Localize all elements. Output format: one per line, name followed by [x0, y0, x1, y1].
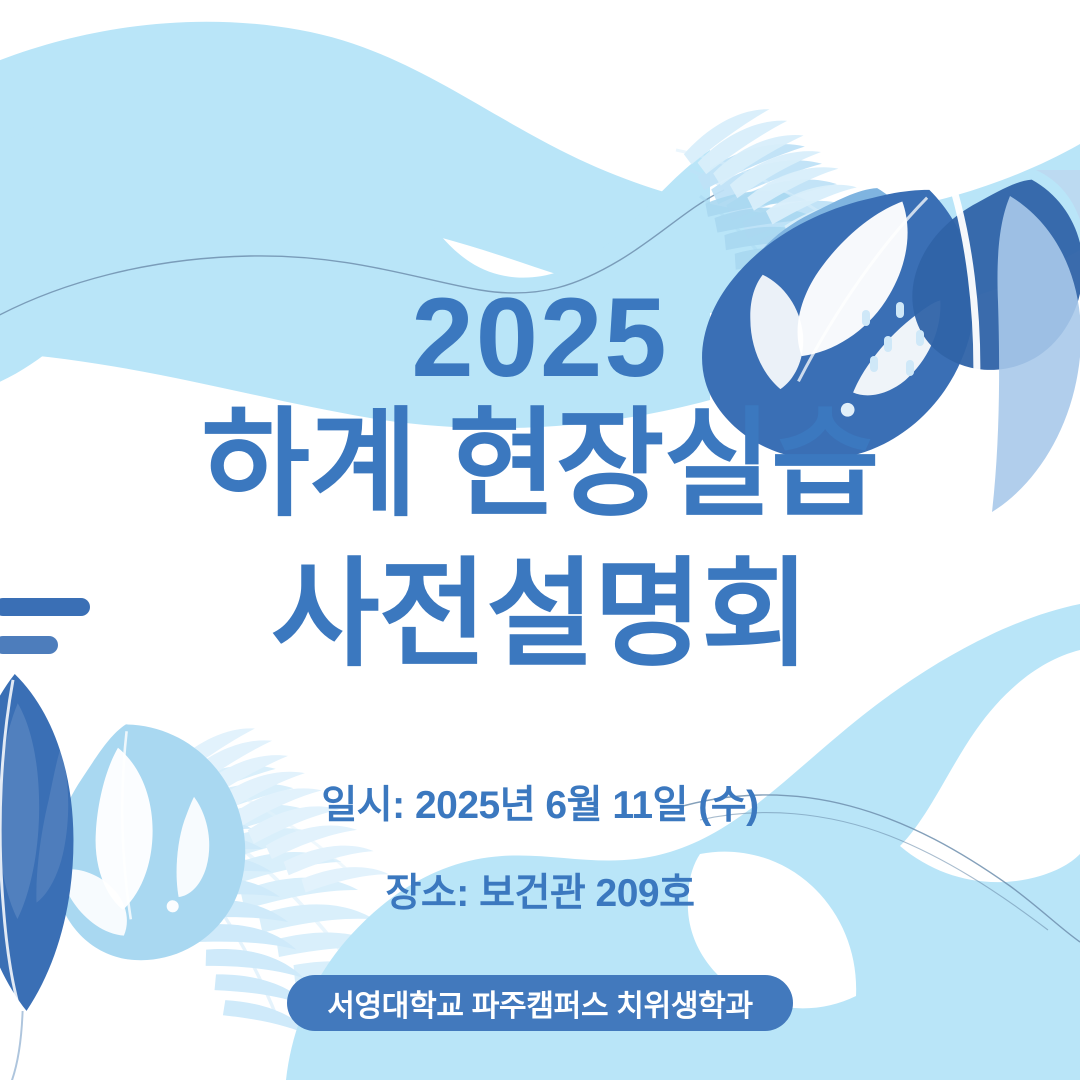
- poster-canvas: 2025 하계 현장실습 사전설명회 일시: 2025년 6월 11일 (수) …: [0, 0, 1080, 1080]
- title-line-2: 사전설명회: [0, 544, 1080, 688]
- title-year: 2025: [0, 282, 1080, 394]
- event-info-block: 일시: 2025년 6월 11일 (수) 장소: 보건관 209호: [0, 786, 1080, 913]
- department-badge: 서영대학교 파주캠퍼스 치위생학과: [287, 975, 793, 1031]
- poster-content: 2025 하계 현장실습 사전설명회 일시: 2025년 6월 11일 (수) …: [0, 0, 1080, 1080]
- title-line-1: 하계 현장실습: [0, 394, 1080, 538]
- title-block: 2025 하계 현장실습 사전설명회: [0, 282, 1080, 688]
- department-badge-wrapper: 서영대학교 파주캠퍼스 치위생학과: [0, 975, 1080, 1031]
- event-date-line: 일시: 2025년 6월 11일 (수): [0, 786, 1080, 825]
- event-place-line: 장소: 보건관 209호: [0, 874, 1080, 913]
